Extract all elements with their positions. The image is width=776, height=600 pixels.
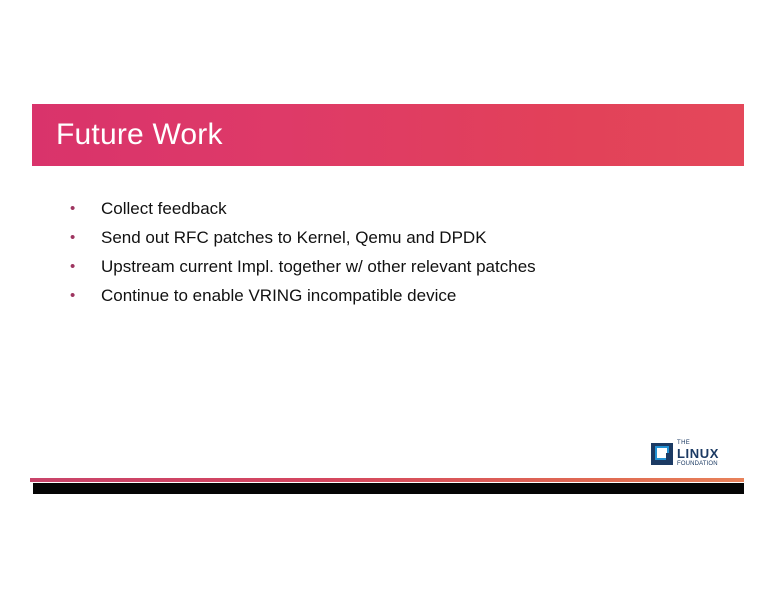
page-title: Future Work: [56, 120, 223, 150]
slide: Future Work • Collect feedback • Send ou…: [0, 0, 776, 600]
bullet-text: Collect feedback: [101, 197, 706, 220]
list-item: • Upstream current Impl. together w/ oth…: [66, 255, 706, 284]
list-item: • Send out RFC patches to Kernel, Qemu a…: [66, 226, 706, 255]
logo-wordmark: THE LINUX FOUNDATION: [677, 440, 727, 468]
bullet-marker-icon: •: [66, 284, 101, 307]
bullet-marker-icon: •: [66, 255, 101, 278]
list-item: • Continue to enable VRING incompatible …: [66, 284, 706, 313]
logo-foundation-text: FOUNDATION: [677, 460, 727, 468]
footer-accent-rule: [30, 478, 744, 482]
logo-notch: [666, 453, 672, 464]
bullet-text: Upstream current Impl. together w/ other…: [101, 255, 706, 278]
footer-black-bar: [33, 483, 744, 494]
linux-foundation-mark-icon: [651, 443, 673, 465]
bullet-marker-icon: •: [66, 197, 101, 220]
bullet-text: Send out RFC patches to Kernel, Qemu and…: [101, 226, 706, 249]
linux-foundation-logo: THE LINUX FOUNDATION: [651, 439, 727, 469]
bullet-list: • Collect feedback • Send out RFC patche…: [66, 197, 706, 313]
list-item: • Collect feedback: [66, 197, 706, 226]
title-banner: Future Work: [32, 104, 744, 166]
logo-linux-text: LINUX: [677, 447, 727, 460]
bullet-text: Continue to enable VRING incompatible de…: [101, 284, 706, 307]
bullet-marker-icon: •: [66, 226, 101, 249]
